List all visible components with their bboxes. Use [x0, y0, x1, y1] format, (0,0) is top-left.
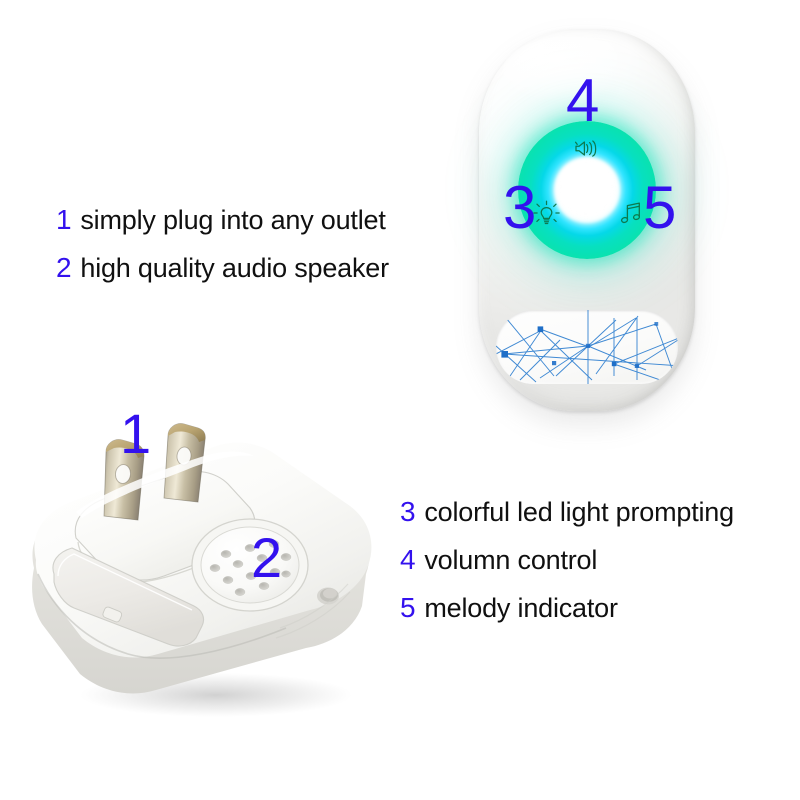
speaker-grille [192, 519, 308, 611]
feature-number: 2 [56, 244, 71, 291]
plug-in-doorbell-rear-view [18, 392, 390, 722]
callout-number-2: 2 [251, 530, 282, 586]
feature-label: melody indicator [424, 585, 617, 632]
callout-number-5: 5 [643, 178, 676, 238]
feature-item-3: 3 colorful led light prompting [400, 488, 734, 536]
feature-list-left: 1 simply plug into any outlet 2 high qua… [56, 196, 389, 292]
feature-item-1: 1 simply plug into any outlet [56, 196, 389, 244]
feature-item-4: 4 volumn control [400, 536, 734, 584]
callout-number-3: 3 [503, 178, 536, 238]
feature-label: colorful led light prompting [424, 489, 734, 536]
feature-number: 3 [400, 488, 415, 535]
callout-number-1: 1 [120, 406, 151, 462]
feature-list-right: 3 colorful led light prompting 4 volumn … [400, 488, 734, 632]
feature-number: 5 [400, 584, 415, 631]
feature-label: simply plug into any outlet [80, 197, 385, 244]
feature-number: 1 [56, 196, 71, 243]
feature-label: volumn control [424, 537, 597, 584]
volume-speaker-icon[interactable] [574, 140, 600, 157]
callout-number-4: 4 [566, 71, 599, 131]
decorative-geometric-panel [496, 310, 678, 384]
led-light-ring[interactable] [518, 121, 656, 259]
light-bulb-icon[interactable] [533, 200, 560, 226]
infographic-canvas: 1 2 3 4 5 1 simply plug into any outlet … [0, 0, 800, 800]
feature-item-5: 5 melody indicator [400, 584, 734, 632]
led-glow-core [554, 157, 620, 223]
feature-label: high quality audio speaker [80, 245, 389, 292]
feature-item-2: 2 high quality audio speaker [56, 244, 389, 292]
music-note-icon[interactable] [620, 201, 643, 225]
feature-number: 4 [400, 536, 415, 583]
